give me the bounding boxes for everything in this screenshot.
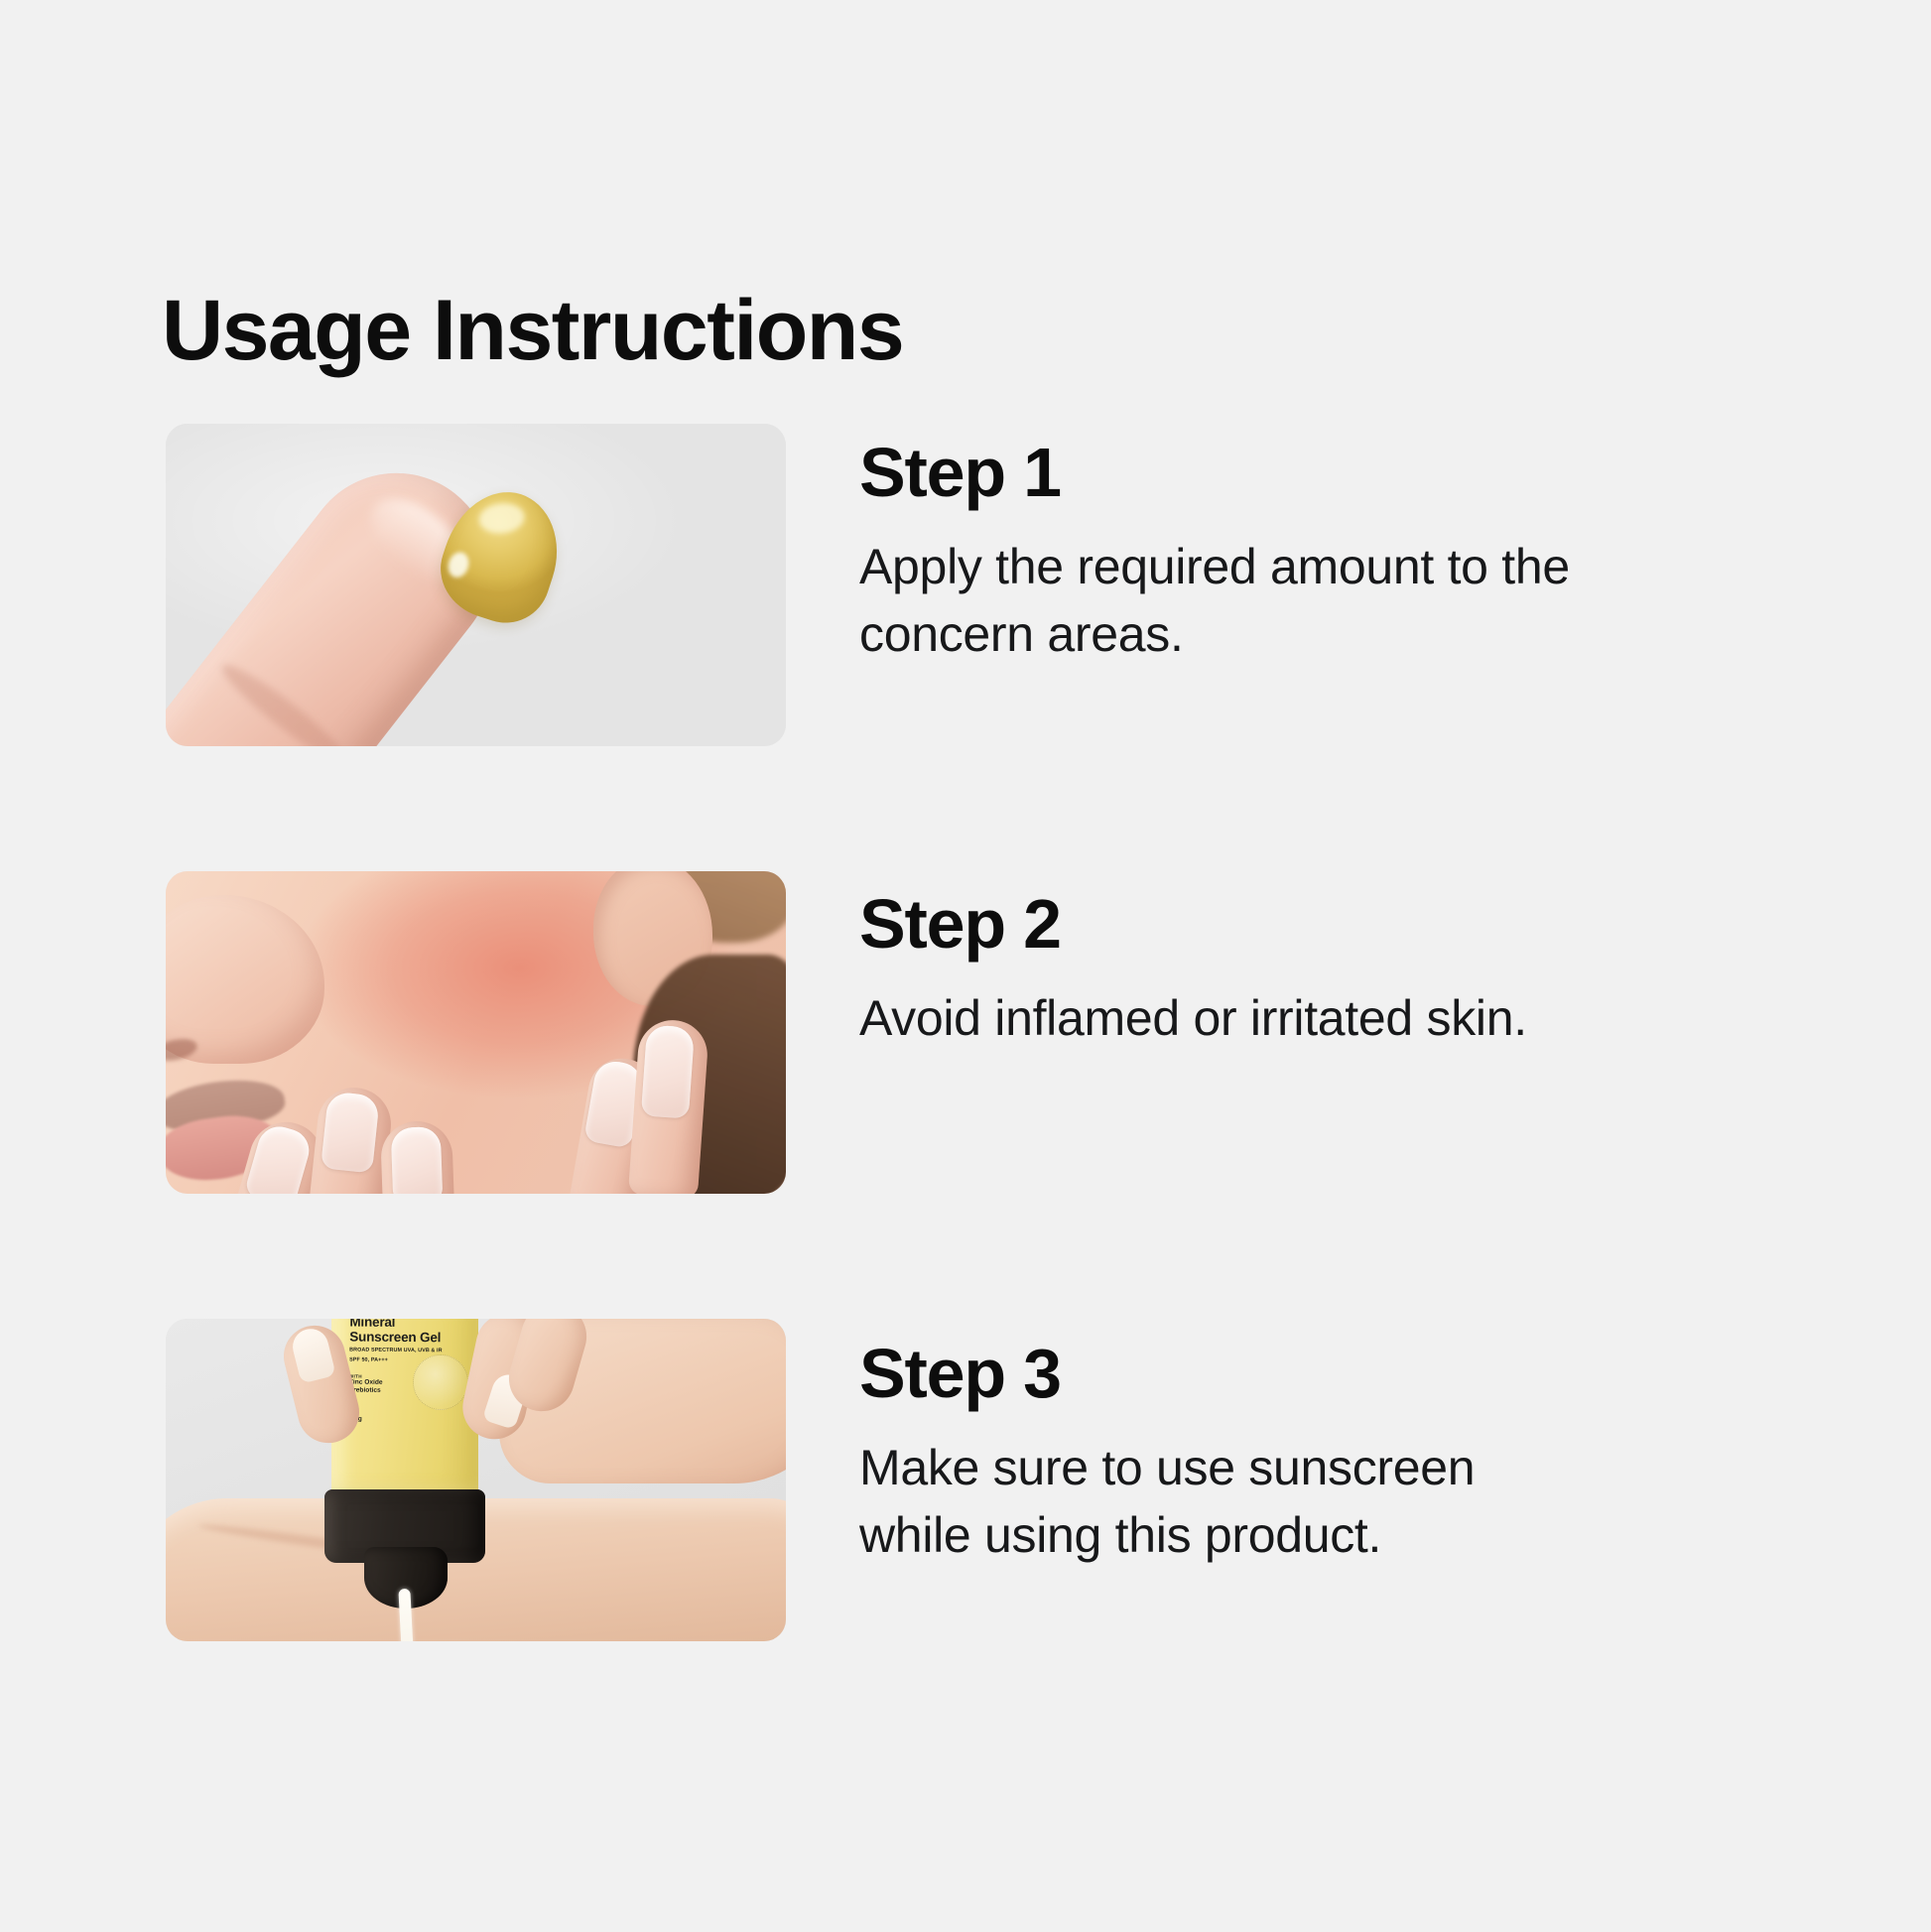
- step-3-heading: Step 3: [859, 1339, 1733, 1408]
- fingernail: [391, 1126, 444, 1194]
- step-row: Step 2 Avoid inflamed or irritated skin.: [0, 871, 1931, 1319]
- dollop-highlight: [477, 501, 526, 536]
- finger-knuckle: [214, 656, 355, 746]
- step-2-image: [166, 871, 786, 1194]
- tube-net-weight: 50 g: [349, 1415, 464, 1423]
- tube-spectrum: BROAD SPECTRUM UVA, UVB & IR: [349, 1348, 464, 1355]
- tube-label: Mineral Sunscreen Gel BROAD SPECTRUM UVA…: [349, 1319, 465, 1423]
- step-3-image: Mineral Sunscreen Gel BROAD SPECTRUM UVA…: [166, 1319, 786, 1641]
- step-2-description: Avoid inflamed or irritated skin.: [859, 984, 1574, 1052]
- steps-list: Step 1 Apply the required amount to the …: [0, 424, 1931, 1766]
- step-1-text-block: Step 1 Apply the required amount to the …: [859, 438, 1733, 668]
- step-3-text-block: Step 3 Make sure to use sunscreen while …: [859, 1339, 1733, 1569]
- dollop-highlight-secondary: [446, 550, 472, 580]
- step-2-heading: Step 2: [859, 889, 1733, 959]
- usage-instructions-page: Usage Instructions Step 1: [0, 0, 1931, 1932]
- tube-brand-line-2: Sunscreen Gel: [349, 1330, 464, 1346]
- step-3-description: Make sure to use sunscreen while using t…: [859, 1434, 1574, 1569]
- step-1-heading: Step 1: [859, 438, 1733, 507]
- tube-spf: SPF 50, PA+++: [349, 1357, 464, 1365]
- step-2-text-block: Step 2 Avoid inflamed or irritated skin.: [859, 889, 1733, 1052]
- tube-ingredient-2: Prebiotics: [349, 1387, 464, 1397]
- step-1-image: [166, 424, 786, 746]
- fingernail: [641, 1024, 695, 1118]
- step-row: Step 1 Apply the required amount to the …: [0, 424, 1931, 871]
- step-1-description: Apply the required amount to the concern…: [859, 533, 1574, 668]
- fingernail: [321, 1091, 380, 1173]
- step-row: Mineral Sunscreen Gel BROAD SPECTRUM UVA…: [0, 1319, 1931, 1766]
- page-title: Usage Instructions: [162, 288, 903, 373]
